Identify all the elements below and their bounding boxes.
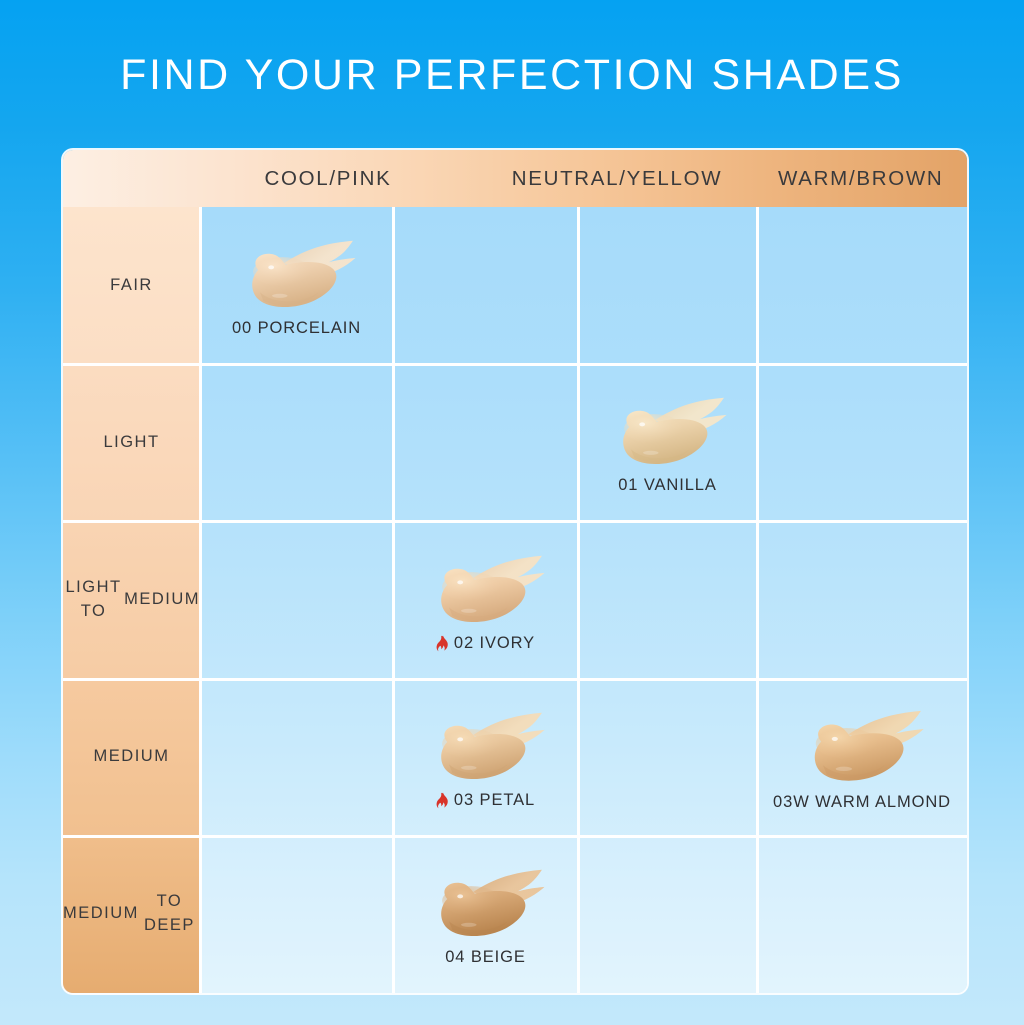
shade-label: 00 PORCELAIN — [232, 319, 361, 338]
shade-name: 04 BEIGE — [445, 948, 526, 967]
empty-cell-placeholder — [667, 917, 668, 918]
empty-cell-placeholder — [485, 288, 486, 289]
empty-cell-placeholder — [862, 288, 863, 289]
shade-finder-table: COOL/PINK NEUTRAL/YELLOW WARM/BROWN FAIR — [63, 150, 967, 993]
shade-name: 01 VANILLA — [618, 476, 717, 495]
shade-cell-01-vanilla[interactable]: 01 VANILLA — [578, 364, 757, 521]
table-row: MEDIUMTO DEEP 04 — [63, 836, 967, 993]
shade-cell-empty — [200, 836, 393, 993]
table-row: LIGHT 01 VANILLA — [63, 364, 967, 521]
shade-cell-03-petal[interactable]: 03 PETAL — [393, 679, 578, 836]
empty-cell-placeholder — [485, 445, 486, 446]
shade-label: 02 IVORY — [436, 634, 535, 653]
table-body: FAIR 00 PORCELAI — [63, 207, 967, 993]
table-header-corner — [63, 150, 200, 207]
shade-cell-empty — [757, 521, 967, 678]
column-header-cool-pink: COOL/PINK — [200, 150, 456, 207]
shade-cell-empty — [200, 364, 393, 521]
empty-cell-placeholder — [296, 445, 297, 446]
shade-cell-empty — [757, 836, 967, 993]
shade-cell-empty — [757, 364, 967, 521]
shade-label: 03 PETAL — [436, 791, 535, 810]
level-label-line: MEDIUM — [124, 588, 200, 612]
empty-cell-placeholder — [667, 603, 668, 604]
column-header-neutral-yellow: NEUTRAL/YELLOW — [456, 150, 778, 207]
level-label-line: FAIR — [110, 274, 153, 298]
level-label-line: MEDIUM — [63, 902, 139, 926]
coverage-level-label-light-to-medium: LIGHT TOMEDIUM — [63, 521, 200, 678]
page-title-container: FIND YOUR PERFECTION SHADES — [0, 52, 1024, 99]
shade-name: 02 IVORY — [454, 634, 535, 653]
shade-cell-empty — [757, 207, 967, 364]
shade-cell-empty — [578, 207, 757, 364]
empty-cell-placeholder — [296, 917, 297, 918]
foundation-swatch-icon — [603, 396, 733, 470]
shade-cell-02-ivory[interactable]: 02 IVORY — [393, 521, 578, 678]
level-label-line: LIGHT — [103, 431, 159, 455]
table-row: FAIR 00 PORCELAI — [63, 207, 967, 364]
level-label-line: TO DEEP — [139, 890, 200, 938]
shade-cell-03w-warm-almond[interactable]: 03W WARM ALMOND — [757, 679, 967, 836]
shade-cell-empty — [393, 364, 578, 521]
column-header-warm-brown: WARM/BROWN — [778, 150, 967, 207]
shade-cell-empty — [200, 521, 393, 678]
shade-cell-empty — [393, 207, 578, 364]
shade-label: 01 VANILLA — [618, 476, 717, 495]
foundation-swatch-icon — [793, 709, 931, 787]
empty-cell-placeholder — [296, 760, 297, 761]
foundation-swatch-icon — [421, 868, 551, 942]
empty-cell-placeholder — [862, 917, 863, 918]
shade-label: 04 BEIGE — [445, 948, 526, 967]
level-label-line: LIGHT TO — [63, 576, 124, 624]
shade-cell-empty — [578, 679, 757, 836]
level-label-line: MEDIUM — [94, 745, 170, 769]
page-title: FIND YOUR PERFECTION SHADES — [0, 52, 1024, 99]
coverage-level-label-medium: MEDIUM — [63, 679, 200, 836]
foundation-swatch-icon — [421, 711, 551, 785]
shade-cell-empty — [578, 836, 757, 993]
foundation-swatch-icon — [232, 239, 362, 313]
empty-cell-placeholder — [667, 288, 668, 289]
empty-cell-placeholder — [667, 760, 668, 761]
flame-icon — [436, 792, 450, 810]
empty-cell-placeholder — [862, 603, 863, 604]
empty-cell-placeholder — [862, 445, 863, 446]
table-header-row: COOL/PINK NEUTRAL/YELLOW WARM/BROWN — [63, 150, 967, 207]
shade-name: 03W WARM ALMOND — [773, 793, 951, 812]
coverage-level-label-fair: FAIR — [63, 207, 200, 364]
shade-name: 03 PETAL — [454, 791, 535, 810]
coverage-level-label-light: LIGHT — [63, 364, 200, 521]
empty-cell-placeholder — [296, 603, 297, 604]
shade-cell-empty — [578, 521, 757, 678]
table-row: MEDIUM — [63, 679, 967, 836]
flame-icon — [436, 635, 450, 653]
shade-cell-empty — [200, 679, 393, 836]
shade-cell-04-beige[interactable]: 04 BEIGE — [393, 836, 578, 993]
foundation-swatch-icon — [421, 554, 551, 628]
shade-name: 00 PORCELAIN — [232, 319, 361, 338]
coverage-level-label-medium-to-deep: MEDIUMTO DEEP — [63, 836, 200, 993]
shade-label: 03W WARM ALMOND — [773, 793, 951, 812]
table-row: LIGHT TOMEDIUM — [63, 521, 967, 678]
shade-cell-00-porcelain[interactable]: 00 PORCELAIN — [200, 207, 393, 364]
